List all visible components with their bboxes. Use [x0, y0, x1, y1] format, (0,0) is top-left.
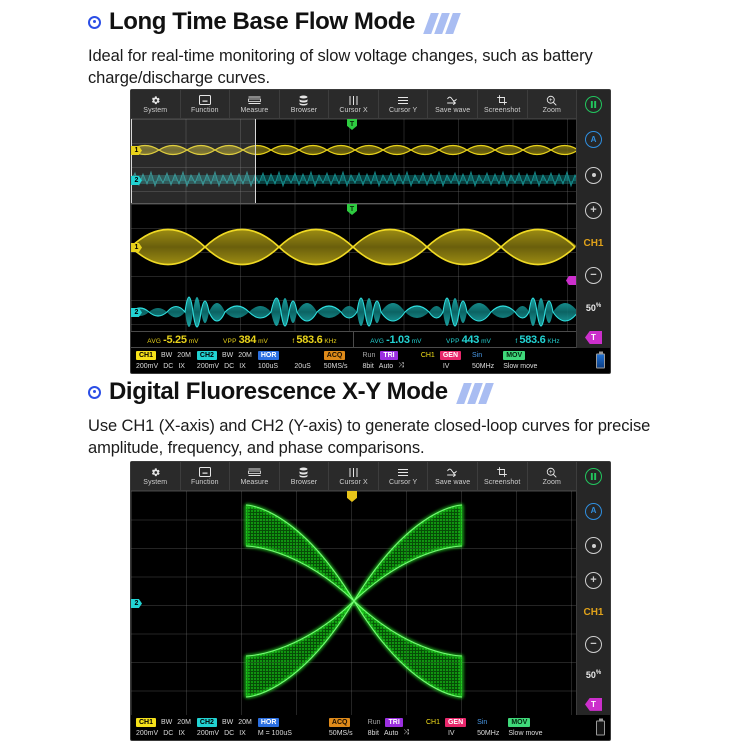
dot-circle-icon — [592, 173, 596, 177]
zoom-out-button[interactable]: − — [585, 267, 602, 284]
cursor-y-icon — [397, 95, 409, 106]
toolbar-item-measure[interactable]: Measure — [230, 90, 280, 118]
gear-icon — [150, 95, 161, 106]
status-ch2[interactable]: CH2 BW 20M 200mV DC IX — [194, 715, 255, 740]
measure-value: 583.6 — [296, 334, 322, 346]
hor-tag: HOR — [258, 718, 280, 727]
plus-circle-icon: + — [590, 205, 596, 216]
ch1-tag: CH1 — [136, 351, 156, 360]
ch2-bw-value: 20M — [238, 719, 252, 726]
toolbar-label: Cursor X — [339, 107, 367, 114]
run-state: Run — [368, 719, 381, 726]
acq-tag: ACQ — [329, 718, 351, 727]
zoom-magnifier-icon — [546, 467, 557, 478]
toolbar-item-cursor-y[interactable]: Cursor Y — [379, 462, 429, 490]
tri-edge: ⤨ — [403, 729, 409, 737]
toolbar-label: Cursor Y — [389, 479, 417, 486]
zoom-out-button[interactable]: − — [585, 636, 602, 653]
zoom-in-button[interactable]: + — [585, 572, 602, 589]
ch1-scale: 200mV — [136, 730, 158, 737]
xy-pane[interactable]: 2 — [131, 491, 576, 715]
screenshot-crop-icon — [497, 467, 508, 478]
toolbar-label: Measure — [240, 107, 268, 114]
ch2-bw-label: BW — [222, 719, 233, 726]
battery-icon — [596, 720, 605, 735]
section-1-title: Long Time Base Flow Mode — [109, 8, 415, 36]
ch1-scale: 200mV — [136, 363, 158, 370]
ch2-probe: IX — [239, 730, 246, 737]
toolbar-label: Zoom — [543, 107, 561, 114]
record-button[interactable] — [585, 537, 602, 554]
ch1-bw-label: BW — [161, 719, 172, 726]
toolbar-item-zoom[interactable]: Zoom — [528, 462, 577, 490]
status-ch1[interactable]: CH1 BW 20M 200mV DC IX — [133, 348, 194, 373]
auto-label: A — [591, 507, 597, 515]
toolbar-item-cursor-x[interactable]: Cursor X — [329, 90, 379, 118]
tri-mode: Auto — [379, 363, 393, 370]
toolbar-item-measure[interactable]: Measure — [230, 462, 280, 490]
battery-icon — [596, 353, 605, 368]
waveform-area-xy[interactable]: 2 — [131, 491, 576, 715]
cursor-x-icon — [348, 95, 359, 106]
toolbar-label: Browser — [291, 107, 317, 114]
function-window-icon — [199, 95, 211, 106]
trigger-marker[interactable]: T — [585, 698, 602, 711]
tri-tag: TRI — [380, 351, 397, 360]
auto-button[interactable]: A — [585, 131, 602, 148]
measure-value: -5.25 — [163, 334, 187, 346]
browser-stack-icon — [298, 467, 309, 478]
zoom-in-button[interactable]: + — [585, 202, 602, 219]
toolbar-item-screenshot[interactable]: Screenshot — [478, 90, 528, 118]
ch2-tag: CH2 — [197, 351, 217, 360]
measure-item: AVG -5.25 mV — [147, 334, 198, 346]
gen-frequency: 50MHz — [477, 730, 499, 737]
trigger-marker[interactable]: T — [585, 331, 602, 344]
status-gen[interactable]: CH1 GEN IV — [412, 715, 469, 740]
ch2-bw-label: BW — [222, 352, 233, 359]
toolbar-item-function[interactable]: Function — [181, 90, 231, 118]
toolbar-item-zoom[interactable]: Zoom — [528, 90, 577, 118]
auto-button[interactable]: A — [585, 503, 602, 520]
save-wave-icon — [446, 467, 459, 478]
tri-mode: Auto — [384, 730, 398, 737]
toolbar-item-system[interactable]: System — [131, 462, 181, 490]
toolbar-item-system[interactable]: System — [131, 90, 181, 118]
toolbar-label: Measure — [240, 479, 268, 486]
section-1-heading: Long Time Base Flow Mode — [88, 8, 457, 36]
oscilloscope-screen-2: System Function Measure — [130, 461, 611, 741]
measure-value: -1.03 — [386, 334, 410, 346]
measurement-strip-1: AVG -5.25 mV VPP 384 mV f 583.6 KHz — [131, 331, 576, 348]
percent-sign: % — [596, 670, 601, 676]
measure-group-ch1: AVG -5.25 mV VPP 384 mV f 583.6 KHz — [131, 332, 354, 347]
oscilloscope-screen-1: System Function Measure — [130, 89, 611, 374]
trigger-percent-value: 50 — [586, 303, 596, 313]
minus-circle-icon: − — [590, 270, 596, 281]
zoom-pane[interactable]: 1 2 T — [131, 204, 576, 331]
cursor-x-icon — [348, 467, 359, 478]
measure-label: f — [515, 338, 517, 345]
status-trigger[interactable]: Run TRI 8bit Auto ⤨ — [356, 715, 412, 740]
toolbar-label: Cursor X — [339, 479, 367, 486]
status-hor[interactable]: HOR M = 100uS — [255, 715, 295, 740]
hor-delay: 20uS — [294, 363, 310, 370]
bullet-icon — [88, 16, 101, 29]
ch1-tag: CH1 — [136, 718, 156, 727]
measure-item: f 583.6 KHz — [515, 334, 559, 346]
gen-amplitude: IV — [448, 730, 455, 737]
hor-tag: HOR — [258, 351, 280, 360]
status-gen[interactable]: CH1 GEN IV — [407, 348, 464, 373]
measure-item: f 583.6 KHz — [292, 334, 336, 346]
function-window-icon — [199, 467, 211, 478]
status-bar-1: CH1 BW 20M 200mV DC IX CH2 BW 20M 200mV … — [131, 348, 610, 373]
toolbar-label: Function — [191, 479, 219, 486]
mov-tag: MOV — [503, 351, 525, 360]
sidebar-1: A + CH1 − 50% T — [576, 90, 610, 348]
toolbar-label: Zoom — [543, 479, 561, 486]
slash-decoration-icon — [460, 383, 490, 404]
status-hor-delay[interactable]: 20uS — [282, 348, 313, 373]
toolbar-label: System — [143, 107, 167, 114]
measure-value: 583.6 — [519, 334, 545, 346]
toolbar-label: Save wave — [435, 107, 470, 114]
tri-tag: TRI — [385, 718, 402, 727]
measure-item: VPP 443 mV — [446, 334, 491, 346]
trigger-percent[interactable]: 50% — [586, 303, 601, 313]
trigger-percent-value: 50 — [586, 670, 596, 680]
status-ch2[interactable]: CH2 BW 20M 200mV DC IX — [194, 348, 255, 373]
tri-edge: ⤨ — [398, 362, 404, 370]
gen-frequency: 50MHz — [472, 363, 494, 370]
measure-item: VPP 384 mV — [223, 334, 268, 346]
gen-wave: Sin — [477, 719, 487, 726]
status-gen-freq[interactable]: Sin 50MHz — [464, 348, 497, 373]
measure-label: VPP — [446, 338, 460, 345]
browser-stack-icon — [298, 95, 309, 106]
ch1-probe: IX — [178, 363, 185, 370]
toolbar-label: Screenshot — [484, 479, 520, 486]
measure-unit: mV — [412, 338, 422, 345]
toolbar-2: System Function Measure — [131, 462, 576, 491]
measure-unit: mV — [258, 338, 268, 345]
mov-mode: Slow move — [503, 363, 537, 370]
acq-rate: 50MS/s — [324, 363, 348, 370]
ch1-coupling: DC — [163, 363, 173, 370]
ch2-coupling: DC — [224, 730, 234, 737]
measure-label: AVG — [370, 338, 384, 345]
gen-amplitude: IV — [443, 363, 450, 370]
status-mov[interactable]: MOV Slow move — [497, 348, 540, 373]
zoom-waveforms — [131, 204, 576, 331]
section-2-title: Digital Fluorescence X-Y Mode — [109, 378, 448, 406]
toolbar-label: Browser — [291, 479, 317, 486]
bullet-icon — [88, 386, 101, 399]
toolbar-label: Save wave — [435, 479, 470, 486]
measure-value: 384 — [239, 334, 256, 346]
toolbar-label: Screenshot — [484, 107, 520, 114]
trigger-percent[interactable]: 50% — [586, 670, 601, 680]
dot-circle-icon — [592, 544, 596, 548]
acq-bits: 8bit — [363, 363, 374, 370]
sidebar-2: A + CH1 − 50% T — [576, 462, 610, 715]
toolbar-item-function[interactable]: Function — [181, 462, 231, 490]
section-2-heading: Digital Fluorescence X-Y Mode — [88, 378, 490, 406]
ch1-bw-value: 20M — [177, 352, 191, 359]
tri-source: CH1 — [421, 352, 435, 359]
status-trigger[interactable]: Run TRI 8bit Auto ⤨ — [351, 348, 407, 373]
zoom-magnifier-icon — [546, 95, 557, 106]
measure-group-ch2: AVG -1.03 mV VPP 443 mV f 583.6 KHz — [354, 332, 576, 347]
mov-tag: MOV — [508, 718, 530, 727]
status-gen-freq[interactable]: Sin 50MHz — [469, 715, 502, 740]
acq-rate: 50MS/s — [329, 730, 353, 737]
toolbar-item-cursor-x[interactable]: Cursor X — [329, 462, 379, 490]
measure-unit: KHz — [324, 338, 336, 345]
ch1-bw-value: 20M — [177, 719, 191, 726]
status-ch1[interactable]: CH1 BW 20M 200mV DC IX — [133, 715, 194, 740]
toolbar-item-save-wave[interactable]: Save wave — [428, 90, 478, 118]
run-pause-button[interactable] — [585, 468, 602, 485]
waveform-area-1[interactable]: 1 2 T — [131, 119, 576, 331]
measure-label: VPP — [223, 338, 237, 345]
auto-label: A — [591, 136, 597, 144]
measure-unit: mV — [481, 338, 491, 345]
ch2-coupling: DC — [224, 363, 234, 370]
section-1-body: Ideal for real-time monitoring of slow v… — [88, 45, 648, 90]
slash-decoration-icon — [427, 13, 457, 34]
measure-ruler-icon — [248, 95, 261, 106]
screenshot-crop-icon — [497, 95, 508, 106]
ch2-bw-value: 20M — [238, 352, 252, 359]
toolbar-item-browser[interactable]: Browser — [280, 90, 330, 118]
gear-icon — [150, 467, 161, 478]
ch2-tag: CH2 — [197, 718, 217, 727]
ch1-coupling: DC — [163, 730, 173, 737]
status-mov[interactable]: MOV Slow move — [502, 715, 545, 740]
cursor-y-icon — [397, 467, 409, 478]
measure-value: 443 — [462, 334, 479, 346]
toolbar-label: Function — [191, 107, 219, 114]
ch2-scale: 200mV — [197, 363, 219, 370]
ch2-scale: 200mV — [197, 730, 219, 737]
measure-unit: mV — [189, 338, 199, 345]
status-acq[interactable]: ACQ 50MS/s — [314, 348, 351, 373]
measure-label: AVG — [147, 338, 161, 345]
channel-indicator[interactable]: CH1 — [583, 238, 603, 249]
zoom-selection-region[interactable] — [131, 119, 256, 203]
ch2-probe: IX — [239, 363, 246, 370]
toolbar-item-cursor-y[interactable]: Cursor Y — [379, 90, 429, 118]
lissajous-figure — [131, 491, 576, 715]
ch1-probe: IX — [178, 730, 185, 737]
measure-item: AVG -1.03 mV — [370, 334, 421, 346]
measure-ruler-icon — [248, 467, 261, 478]
hor-timebase: M = 100uS — [258, 730, 292, 737]
tri-source: CH1 — [426, 719, 440, 726]
run-pause-button[interactable] — [585, 96, 602, 113]
toolbar-item-screenshot[interactable]: Screenshot — [478, 462, 528, 490]
minus-circle-icon: − — [590, 639, 596, 650]
measure-label: f — [292, 338, 294, 345]
hor-timebase: 100uS — [258, 363, 278, 370]
overview-pane[interactable]: 1 2 T — [131, 119, 576, 203]
save-wave-icon — [446, 95, 459, 106]
record-button[interactable] — [585, 167, 602, 184]
toolbar-1: System Function Measure — [131, 90, 576, 119]
channel-indicator[interactable]: CH1 — [583, 607, 603, 618]
toolbar-item-save-wave[interactable]: Save wave — [428, 462, 478, 490]
acq-tag: ACQ — [324, 351, 346, 360]
status-bar-2: CH1 BW 20M 200mV DC IX CH2 BW 20M 200mV … — [131, 715, 610, 740]
toolbar-item-browser[interactable]: Browser — [280, 462, 330, 490]
gen-wave: Sin — [472, 352, 482, 359]
measure-unit: KHz — [547, 338, 559, 345]
percent-sign: % — [596, 303, 601, 309]
status-hor[interactable]: HOR 100uS — [255, 348, 283, 373]
mov-mode: Slow move — [508, 730, 542, 737]
run-state: Run — [363, 352, 376, 359]
plus-circle-icon: + — [590, 575, 596, 586]
gen-tag: GEN — [440, 351, 461, 360]
status-acq[interactable]: ACQ 50MS/s — [295, 715, 356, 740]
acq-bits: 8bit — [368, 730, 379, 737]
ch1-bw-label: BW — [161, 352, 172, 359]
gen-tag: GEN — [445, 718, 466, 727]
section-2-body: Use CH1 (X-axis) and CH2 (Y-axis) to gen… — [88, 415, 668, 460]
toolbar-label: System — [143, 479, 167, 486]
toolbar-label: Cursor Y — [389, 107, 417, 114]
